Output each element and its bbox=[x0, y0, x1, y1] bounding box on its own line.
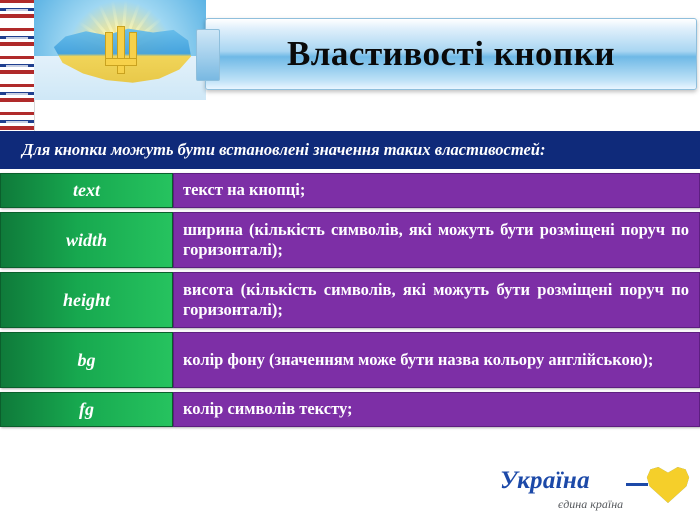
property-description: текст на кнопці; bbox=[173, 173, 700, 208]
property-name: height bbox=[0, 272, 173, 328]
property-description: колір фону (значенням може бути назва ко… bbox=[173, 332, 700, 388]
table-row: fg колір символів тексту; bbox=[0, 392, 700, 427]
property-name: bg bbox=[0, 332, 173, 388]
ukraine-emblem-image bbox=[34, 0, 206, 100]
logo-word: Україна bbox=[500, 467, 590, 495]
property-description: висота (кількість символів, які можуть б… bbox=[173, 272, 700, 328]
property-description: колір символів тексту; bbox=[173, 392, 700, 427]
logo-subtitle: єдина країна bbox=[558, 497, 623, 512]
table-row: text текст на кнопці; bbox=[0, 173, 700, 208]
property-description: ширина (кількість символів, які можуть б… bbox=[173, 212, 700, 268]
table-row: bg колір фону (значенням може бути назва… bbox=[0, 332, 700, 388]
page-title: Властивості кнопки bbox=[287, 34, 615, 74]
trident-icon bbox=[102, 24, 138, 74]
property-name: fg bbox=[0, 392, 173, 427]
property-name: width bbox=[0, 212, 173, 268]
logo-dash bbox=[626, 483, 648, 486]
embroidery-ornament-strip bbox=[0, 0, 35, 135]
ukrainian-flag-heart-icon bbox=[646, 463, 690, 503]
intro-text: Для кнопки можуть бути встановлені значе… bbox=[0, 131, 700, 169]
table-row: height висота (кількість символів, які м… bbox=[0, 272, 700, 328]
property-name: text bbox=[0, 173, 173, 208]
ukraine-logo: Україна єдина країна bbox=[500, 461, 690, 517]
properties-table: Для кнопки можуть бути встановлені значе… bbox=[0, 131, 700, 427]
title-banner: Властивості кнопки bbox=[205, 18, 697, 90]
table-row: width ширина (кількість символів, які мо… bbox=[0, 212, 700, 268]
